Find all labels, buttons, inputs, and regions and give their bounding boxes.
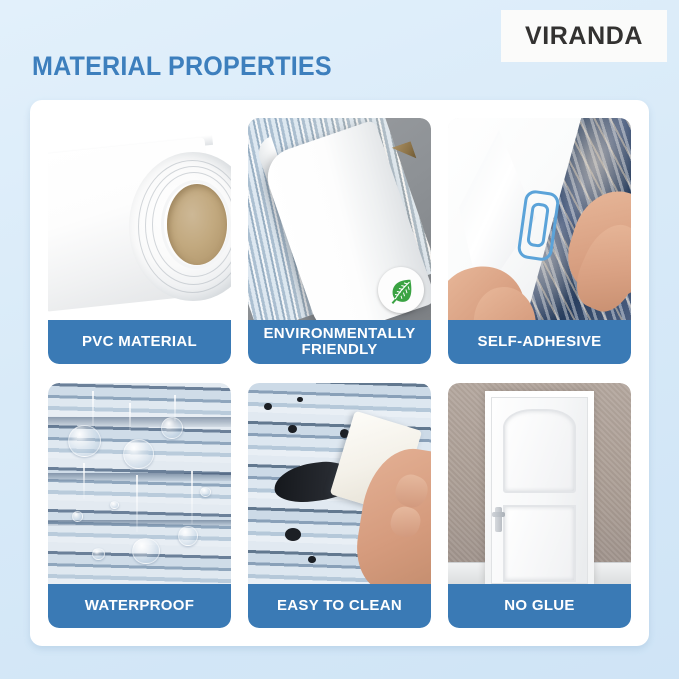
feature-card-easy-to-clean[interactable]: EASY TO CLEAN <box>248 383 431 629</box>
door-handle <box>495 507 502 531</box>
water-droplet <box>68 425 101 457</box>
dirt-stain <box>264 403 271 410</box>
feature-label-waterproof: WATERPROOF <box>48 584 231 628</box>
water-droplet <box>178 526 198 546</box>
dirt-stain <box>297 397 302 402</box>
water-trail <box>129 403 131 431</box>
feature-label-environmentally-friendly: ENVIRONMENTALLY FRIENDLY <box>248 320 431 364</box>
infographic-page: VIRANDA MATERIAL PROPERTIES PVC MATERIAL <box>0 0 679 679</box>
page-title: MATERIAL PROPERTIES <box>32 51 332 82</box>
self-adhesive-photo <box>448 118 631 320</box>
feature-label-easy-to-clean: EASY TO CLEAN <box>248 584 431 628</box>
water-droplet <box>200 487 211 497</box>
water-droplet <box>92 548 105 560</box>
feature-label-pvc-material: PVC MATERIAL <box>48 320 231 364</box>
door-icon <box>448 383 631 585</box>
dirt-stain <box>285 528 301 541</box>
feature-card-waterproof[interactable]: WATERPROOF <box>48 383 231 629</box>
door-panel-bottom <box>503 505 576 582</box>
feature-label-no-glue: NO GLUE <box>448 584 631 628</box>
eco-sheet-photo <box>248 118 431 320</box>
feature-label-self-adhesive: SELF-ADHESIVE <box>448 320 631 364</box>
water-droplet <box>72 511 83 521</box>
water-droplet <box>161 417 183 439</box>
easy-to-clean-photo <box>248 383 431 585</box>
feature-card-self-adhesive[interactable]: SELF-ADHESIVE <box>448 118 631 364</box>
eco-leaf-badge <box>378 267 424 313</box>
water-trail <box>191 471 193 523</box>
brand-name: VIRANDA <box>525 22 643 51</box>
door-handle-lever <box>492 512 505 516</box>
leaf-icon <box>386 275 416 305</box>
waterproof-photo <box>48 383 231 585</box>
water-droplet <box>123 439 154 469</box>
roll-cardboard-core <box>167 184 227 265</box>
feature-grid: PVC MATERIAL <box>48 118 631 628</box>
feature-card-no-glue[interactable]: NO GLUE <box>448 383 631 629</box>
water-trail <box>92 391 94 427</box>
door-panel-top <box>503 409 576 494</box>
baseboard-right <box>593 562 631 584</box>
wood-grain-band <box>48 417 231 427</box>
baseboard-left <box>448 562 486 584</box>
feature-card-pvc-material[interactable]: PVC MATERIAL <box>48 118 231 364</box>
water-trail <box>83 463 85 499</box>
dirt-stain <box>308 556 315 563</box>
water-droplet <box>110 501 119 509</box>
dirt-stain <box>288 425 297 433</box>
wood-grain-band <box>48 473 231 481</box>
brand-logo-box: VIRANDA <box>501 10 667 62</box>
feature-card-environmentally-friendly[interactable]: ENVIRONMENTALLY FRIENDLY <box>248 118 431 364</box>
water-droplet <box>132 538 159 564</box>
content-panel: PVC MATERIAL <box>30 100 649 646</box>
water-trail <box>136 475 138 531</box>
vinyl-roll-icon <box>48 118 231 320</box>
